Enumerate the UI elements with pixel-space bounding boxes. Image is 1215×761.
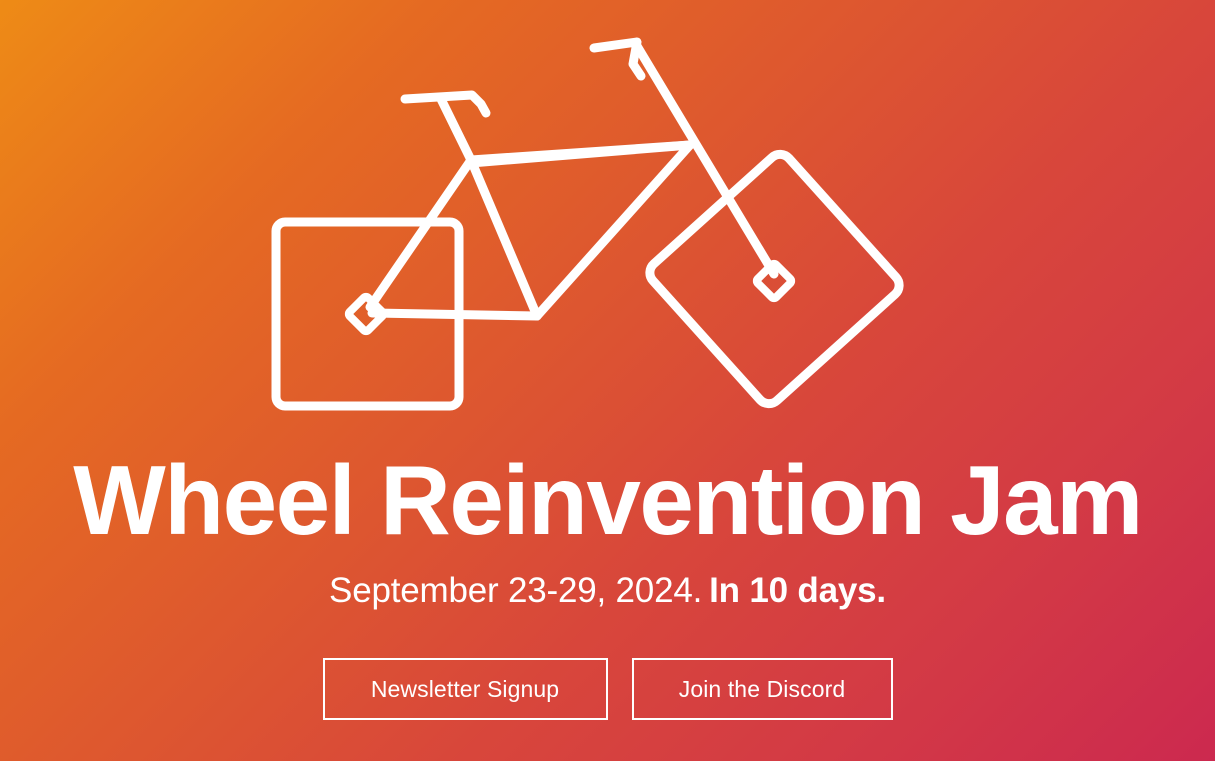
seat [594, 42, 641, 76]
down-tube [471, 145, 690, 160]
fork [441, 99, 537, 316]
square-wheeled-bicycle-illustration [0, 0, 1215, 430]
join-discord-button[interactable]: Join the Discord [632, 658, 893, 720]
seatstay [537, 145, 690, 316]
chainstay [372, 313, 537, 316]
event-subtitle: September 23-29, 2024.In 10 days. [0, 570, 1215, 612]
rear-diamond-wheel [645, 149, 904, 408]
newsletter-signup-button[interactable]: Newsletter Signup [323, 658, 608, 720]
page-title: Wheel Reinvention Jam [0, 446, 1215, 556]
cta-button-row: Newsletter Signup Join the Discord [0, 658, 1215, 720]
front-fork-lower [370, 160, 471, 307]
front-hub-icon [348, 296, 385, 333]
top-tube [471, 145, 690, 163]
hero-section: Wheel Reinvention Jam September 23-29, 2… [0, 0, 1215, 761]
title-block: Wheel Reinvention Jam September 23-29, 2… [0, 446, 1215, 612]
event-date: September 23-29, 2024. [329, 571, 702, 610]
event-countdown: In 10 days. [709, 571, 886, 610]
rear-hub-icon [756, 263, 793, 300]
front-square-wheel [276, 222, 459, 406]
seat-tube [637, 46, 774, 274]
handlebar [405, 95, 486, 113]
